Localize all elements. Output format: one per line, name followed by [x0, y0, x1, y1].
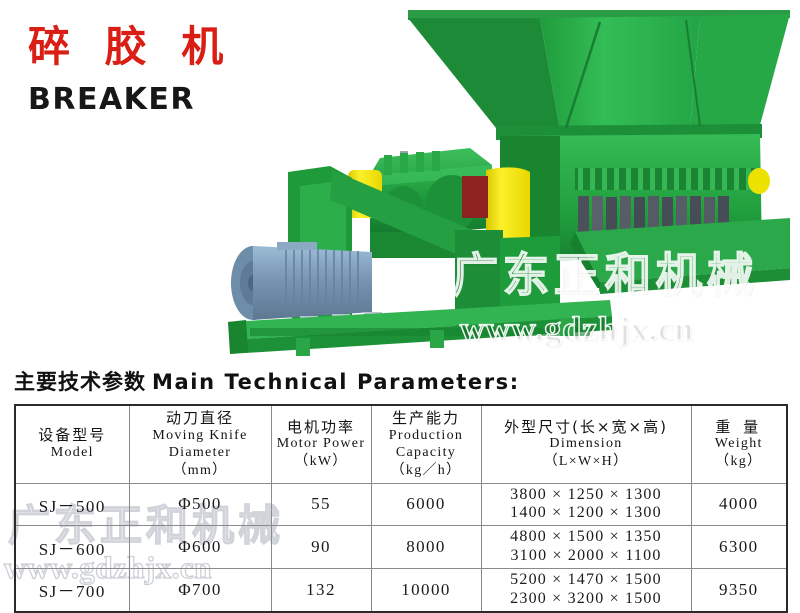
page-title-english: BREAKER — [28, 85, 328, 115]
dimension-line-2: 2300 × 3200 × 1500 — [484, 590, 689, 609]
table-row: SJ－500 Φ500 55 6000 3800 × 1250 × 1300 1… — [15, 483, 787, 526]
col-header-knife-diameter: 动刀直径 Moving Knife Diameter （mm） — [129, 405, 271, 483]
col-header-capacity-unit: （kg／h） — [374, 462, 479, 480]
cell-motor-power: 55 — [271, 483, 371, 526]
dimension-line-1: 4800 × 1500 × 1350 — [484, 528, 689, 547]
cell-capacity: 10000 — [371, 569, 481, 612]
cell-model: SJ－700 — [15, 569, 129, 612]
col-header-weight-unit: （kg） — [694, 453, 785, 471]
cell-motor-power: 132 — [271, 569, 371, 612]
cell-knife-diameter: Φ600 — [129, 526, 271, 569]
col-header-model-cn: 设备型号 — [18, 426, 127, 445]
cell-model: SJ－500 — [15, 483, 129, 526]
rotor-teeth — [578, 168, 751, 190]
dimension-line-1: 3800 × 1250 × 1300 — [484, 486, 689, 505]
col-header-capacity-en: Production Capacity — [374, 428, 479, 462]
col-header-power-cn: 电机功率 — [274, 418, 369, 437]
table-row: SJ－700 Φ700 132 10000 5200 × 1470 × 1500… — [15, 569, 787, 612]
col-header-model-en: Model — [18, 445, 127, 462]
cell-dimension: 3800 × 1250 × 1300 1400 × 1200 × 1300 — [481, 483, 691, 526]
col-header-capacity-cn: 生产能力 — [374, 409, 479, 428]
technical-parameters-table: 设备型号 Model 动刀直径 Moving Knife Diameter （m… — [14, 404, 788, 613]
title-block: 碎 胶 机 BREAKER — [28, 26, 328, 115]
cell-dimension: 4800 × 1500 × 1350 3100 × 2000 × 1100 — [481, 526, 691, 569]
col-header-knife-unit: （mm） — [132, 462, 269, 480]
col-header-dimension: 外型尺寸(长×宽×高) Dimension （L×W×H） — [481, 405, 691, 483]
col-header-weight-cn: 重 量 — [694, 418, 785, 437]
cell-knife-diameter: Φ700 — [129, 569, 271, 612]
cell-weight: 6300 — [691, 526, 787, 569]
col-header-dimension-en: Dimension — [484, 436, 689, 453]
col-header-power-unit: （kW） — [274, 453, 369, 471]
cell-weight: 4000 — [691, 483, 787, 526]
col-header-weight: 重 量 Weight （kg） — [691, 405, 787, 483]
cell-weight: 9350 — [691, 569, 787, 612]
table-header-row: 设备型号 Model 动刀直径 Moving Knife Diameter （m… — [15, 405, 787, 483]
cell-motor-power: 90 — [271, 526, 371, 569]
dimension-line-1: 5200 × 1470 × 1500 — [484, 571, 689, 590]
col-header-knife-cn: 动刀直径 — [132, 409, 269, 428]
dimension-line-2: 1400 × 1200 × 1300 — [484, 504, 689, 523]
cell-dimension: 5200 × 1470 × 1500 2300 × 3200 × 1500 — [481, 569, 691, 612]
cell-model: SJ－600 — [15, 526, 129, 569]
cell-capacity: 6000 — [371, 483, 481, 526]
parameters-heading: 主要技术参数Main Technical Parameters: — [14, 366, 520, 396]
col-header-dimension-cn: 外型尺寸(长×宽×高) — [484, 418, 689, 437]
col-header-power-en: Motor Power — [274, 436, 369, 453]
dimension-line-2: 3100 × 2000 × 1100 — [484, 547, 689, 566]
col-header-weight-en: Weight — [694, 436, 785, 453]
col-header-knife-en: Moving Knife Diameter — [132, 428, 269, 462]
cell-knife-diameter: Φ500 — [129, 483, 271, 526]
col-header-motor-power: 电机功率 Motor Power （kW） — [271, 405, 371, 483]
col-header-model: 设备型号 Model — [15, 405, 129, 483]
col-header-dimension-unit: （L×W×H） — [484, 453, 689, 471]
col-header-capacity: 生产能力 Production Capacity （kg／h） — [371, 405, 481, 483]
table-row: SJ－600 Φ600 90 8000 4800 × 1500 × 1350 3… — [15, 526, 787, 569]
parameters-heading-en: Main Technical Parameters: — [152, 370, 520, 394]
parameters-heading-cn: 主要技术参数 — [14, 370, 146, 394]
page-title-chinese: 碎 胶 机 — [28, 26, 328, 68]
hopper — [408, 10, 790, 140]
cell-capacity: 8000 — [371, 526, 481, 569]
spec-table-container: 设备型号 Model 动刀直径 Moving Knife Diameter （m… — [14, 404, 786, 613]
